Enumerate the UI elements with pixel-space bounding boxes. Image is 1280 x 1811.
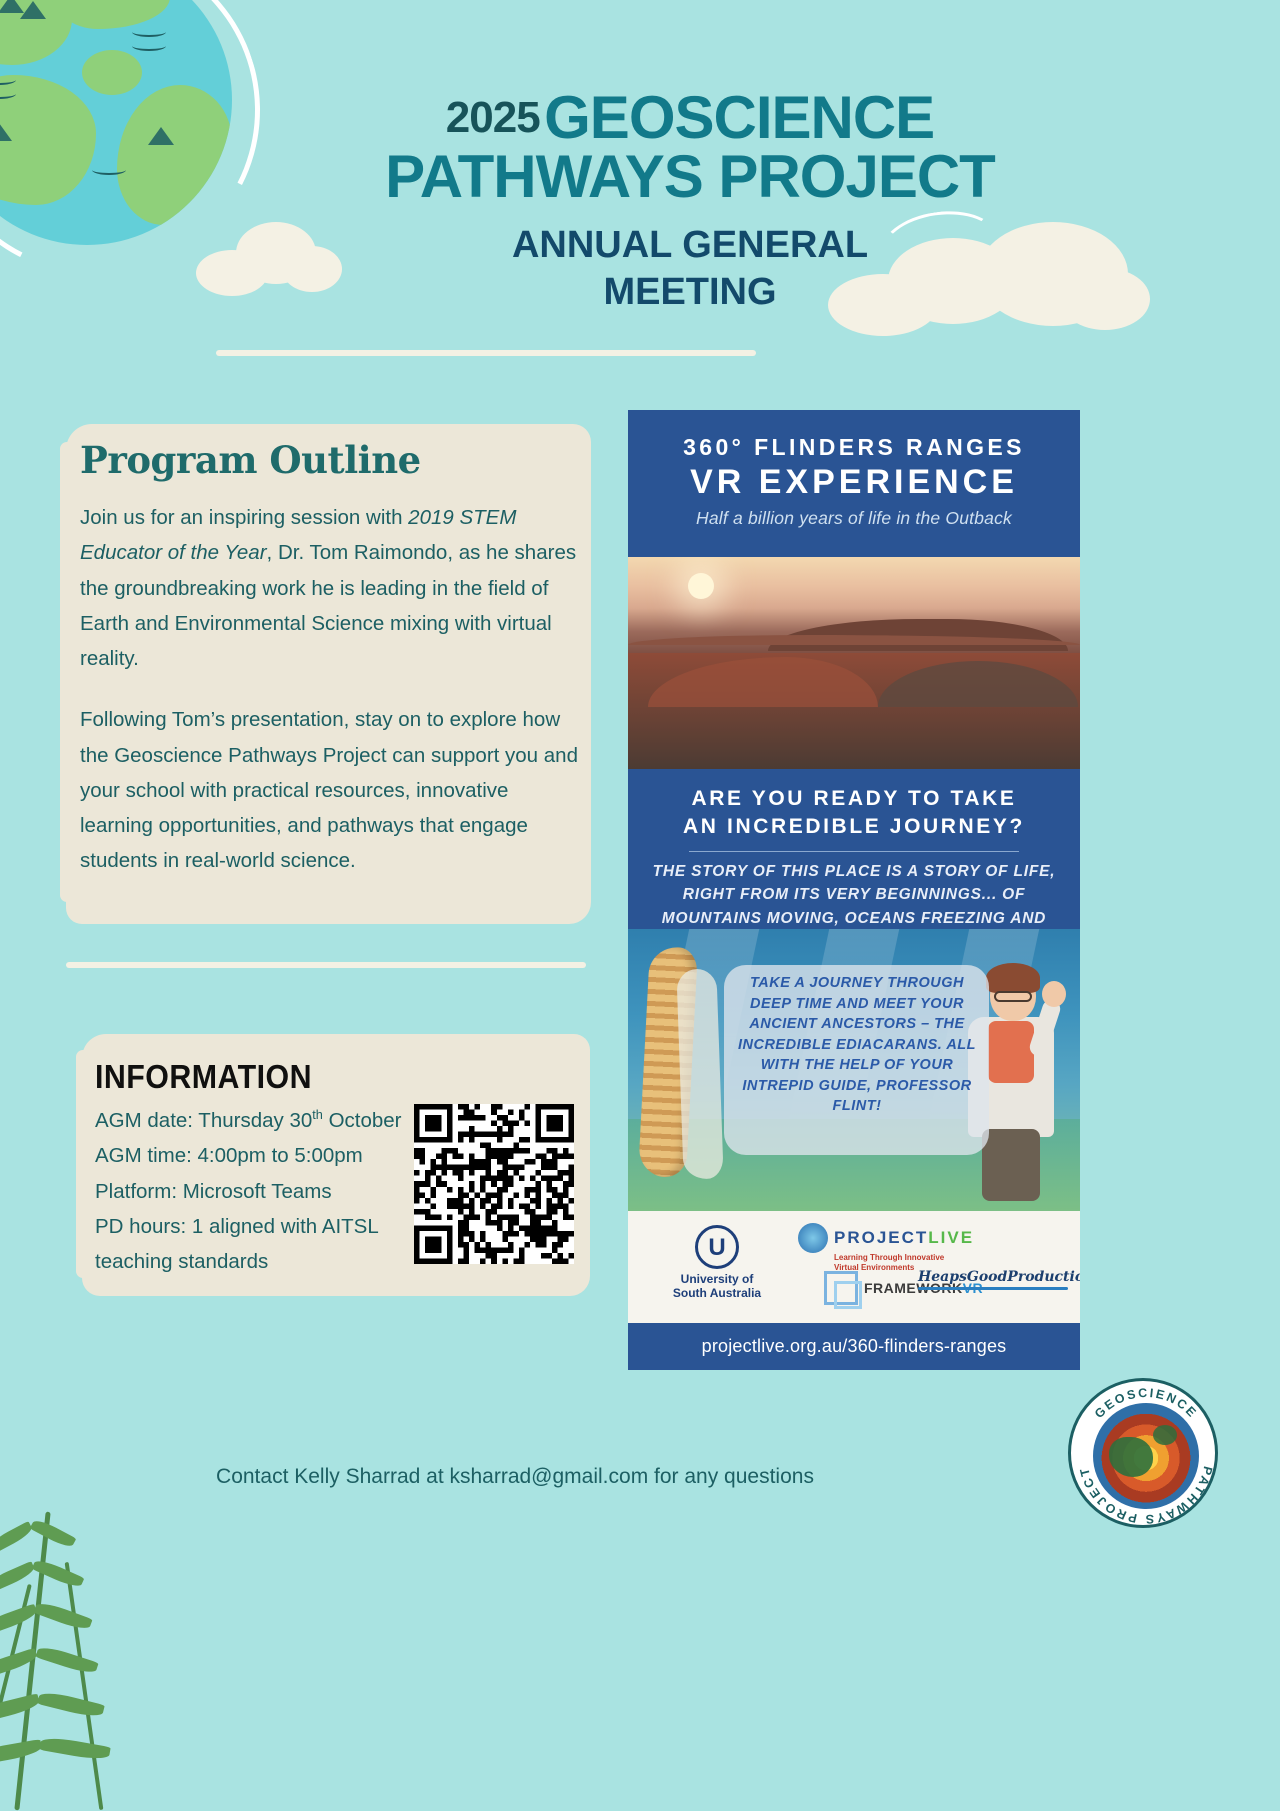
projectlive-globe-icon <box>798 1223 828 1253</box>
heapsgood-underline <box>918 1287 1068 1290</box>
info-date-label: AGM date: Thursday 30 <box>95 1109 312 1132</box>
heapsgood-wordmark: HeapsGoodProductions <box>918 1269 1068 1285</box>
globe-sphere <box>0 0 232 245</box>
event-year: 2025 <box>446 93 540 142</box>
projectlive-sub-1: Learning Through Innovative <box>834 1253 944 1262</box>
subtitle: ANNUAL GENERAL MEETING <box>330 222 1050 317</box>
heapsgood-logo: HeapsGoodProductions <box>918 1269 1068 1290</box>
unisa-line-2: South Australia <box>662 1287 772 1301</box>
information-heading: INFORMATION <box>95 1058 312 1096</box>
program-p1-part-a: Join us for an inspiring session with <box>80 506 408 529</box>
title-word-geoscience: GEOSCIENCE <box>544 84 934 151</box>
svg-text:PATHWAYS PROJECT: PATHWAYS PROJECT <box>1077 1465 1215 1526</box>
vr-heading-large: VR EXPERIENCE <box>646 463 1062 502</box>
projectlive-logo: PROJECTLIVE Learning Through Innovative … <box>798 1223 988 1273</box>
info-pd-hours-line: PD hours: 1 aligned with AITSL teaching … <box>95 1209 425 1280</box>
gpp-logo-text: GEOSCIENCE PATHWAYS PROJECT <box>1071 1381 1221 1531</box>
underwater-scene-photo: TAKE A JOURNEY THROUGH DEEP TIME AND MEE… <box>628 929 1080 1211</box>
info-date-line: AGM date: Thursday 30th October <box>95 1103 425 1138</box>
vr-ready-line-2: AN INCREDIBLE JOURNEY? <box>683 815 1025 838</box>
vr-flyer-panel: 360° FLINDERS RANGES VR EXPERIENCE Half … <box>628 410 1080 1370</box>
subtitle-line-1: ANNUAL GENERAL <box>330 222 1050 270</box>
program-paragraph-1: Join us for an inspiring session with 20… <box>80 500 580 676</box>
title-line-2: PATHWAYS PROJECT <box>330 146 1050 208</box>
vr-divider-rule <box>689 851 1019 853</box>
ediacaran-frond-secondary <box>676 968 723 1179</box>
information-details: AGM date: Thursday 30th October AGM time… <box>95 1103 425 1279</box>
qr-code-image <box>414 1104 574 1264</box>
vr-tagline: Half a billion years of life in the Outb… <box>646 508 1062 529</box>
sun-icon <box>688 573 714 599</box>
info-date-ordinal: th <box>312 1107 323 1122</box>
divider-top <box>216 350 756 356</box>
vr-heading-small: 360° FLINDERS RANGES <box>646 434 1062 461</box>
info-time-line: AGM time: 4:00pm to 5:00pm <box>95 1138 425 1173</box>
frameworkvr-square-icon <box>824 1271 858 1305</box>
vr-flyer-header: 360° FLINDERS RANGES VR EXPERIENCE Half … <box>628 410 1080 543</box>
program-outline-heading: Program Outline <box>80 438 421 482</box>
info-platform-line: Platform: Microsoft Teams <box>95 1174 425 1209</box>
unisa-mark-icon <box>695 1225 739 1269</box>
vr-flyer-url[interactable]: projectlive.org.au/360-flinders-ranges <box>628 1323 1080 1370</box>
title-line-1: 2025 GEOSCIENCE <box>330 88 1050 148</box>
program-outline-body: Join us for an inspiring session with 20… <box>80 500 580 879</box>
partner-logos-strip: University of South Australia PROJECTLIV… <box>628 1211 1080 1323</box>
vr-ready-line-1: ARE YOU READY TO TAKE <box>692 787 1017 810</box>
qr-code[interactable] <box>414 1104 574 1264</box>
info-date-month: October <box>323 1109 402 1132</box>
program-paragraph-2: Following Tom’s presentation, stay on to… <box>80 702 580 878</box>
cloud-left <box>196 216 346 296</box>
divider-middle <box>66 962 586 968</box>
projectlive-word-a: PROJECT <box>834 1228 928 1247</box>
poster-header: 2025 GEOSCIENCE PATHWAYS PROJECT ANNUAL … <box>330 88 1050 317</box>
gpp-circular-logo: GEOSCIENCE PATHWAYS PROJECT <box>1068 1378 1218 1528</box>
svg-text:GEOSCIENCE: GEOSCIENCE <box>1092 1386 1200 1421</box>
vr-ready-heading: ARE YOU READY TO TAKE AN INCREDIBLE JOUR… <box>644 785 1064 842</box>
fern-illustration <box>0 1501 210 1811</box>
unisa-line-1: University of <box>662 1273 772 1287</box>
poster-canvas: 2025 GEOSCIENCE PATHWAYS PROJECT ANNUAL … <box>0 0 1280 1811</box>
outback-landscape-photo <box>628 557 1080 769</box>
subtitle-line-2: MEETING <box>330 269 1050 317</box>
unisa-logo: University of South Australia <box>662 1225 772 1301</box>
contact-line: Contact Kelly Sharrad at ksharrad@gmail.… <box>0 1465 1030 1489</box>
projectlive-word-b: LIVE <box>928 1228 974 1247</box>
speech-bubble-text: TAKE A JOURNEY THROUGH DEEP TIME AND MEE… <box>728 973 986 1117</box>
